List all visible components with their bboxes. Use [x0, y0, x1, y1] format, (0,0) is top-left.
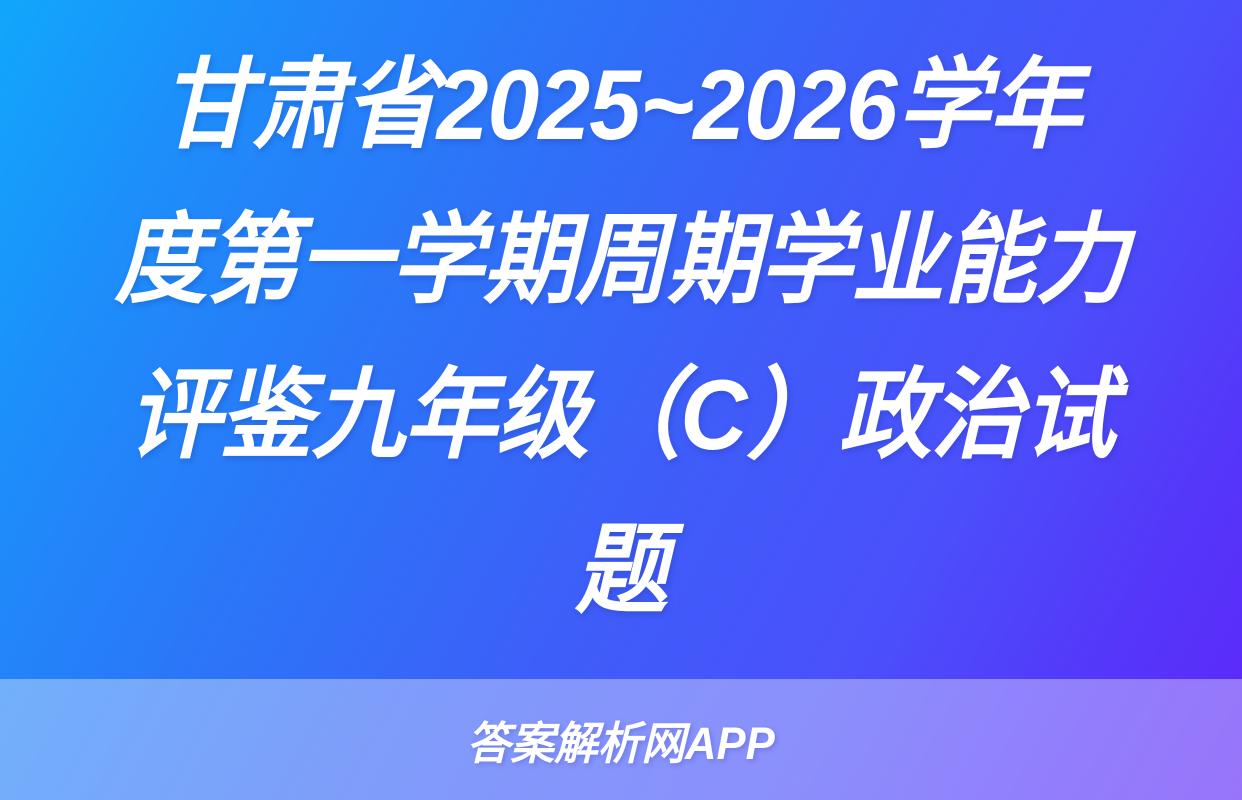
title-block: 甘肃省2025~2026学年 度第一学期周期学业能力 评鉴九年级（C）政治试 题 — [0, 0, 1242, 679]
footer-band: 答案解析网APP — [0, 679, 1242, 800]
title-card: 甘肃省2025~2026学年 度第一学期周期学业能力 评鉴九年级（C）政治试 题… — [0, 0, 1242, 800]
watermark-text: 答案解析网APP — [467, 707, 775, 772]
title-line-1: 甘肃省2025~2026学年 — [161, 27, 1082, 182]
title-line-4: 题 — [575, 492, 667, 647]
title-line-3: 评鉴九年级（C）政治试 — [127, 337, 1114, 492]
title-line-2: 度第一学期周期学业能力 — [114, 182, 1127, 337]
